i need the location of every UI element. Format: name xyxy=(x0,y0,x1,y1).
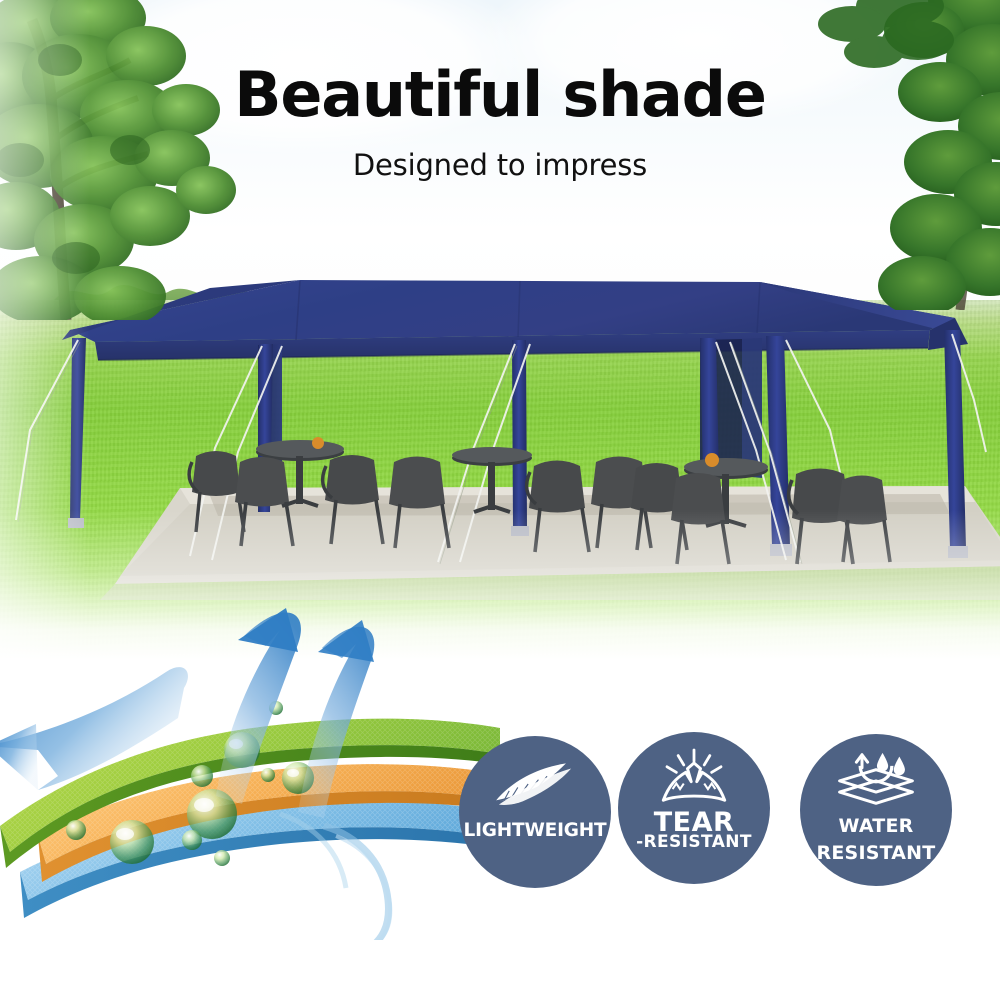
badge-sublabel: -RESISTANT xyxy=(636,833,752,852)
badge-tear-resistant[interactable]: TEAR -RESISTANT xyxy=(618,732,770,884)
tear-fabric-icon xyxy=(651,746,737,808)
page-subtitle: Designed to impress xyxy=(0,148,1000,182)
badge-label: TEAR xyxy=(654,812,735,833)
page-title: Beautiful shade xyxy=(0,62,1000,128)
product-marketing-image: Beautiful shade Designed to impress xyxy=(0,0,1000,1000)
badge-lightweight[interactable]: LIGHTWEIGHT xyxy=(459,736,611,888)
badge-sublabel: RESISTANT xyxy=(817,843,936,864)
feather-icon xyxy=(492,758,578,810)
fabric-layers-illustration xyxy=(0,600,500,940)
badge-label: LIGHTWEIGHT xyxy=(464,820,607,841)
water-droplet-layers-icon xyxy=(833,748,919,810)
badge-label: WATER xyxy=(839,816,914,837)
badge-water-resistant[interactable]: WATER RESISTANT xyxy=(800,734,952,886)
feature-badges: LIGHTWEIGHT xyxy=(455,728,1000,898)
